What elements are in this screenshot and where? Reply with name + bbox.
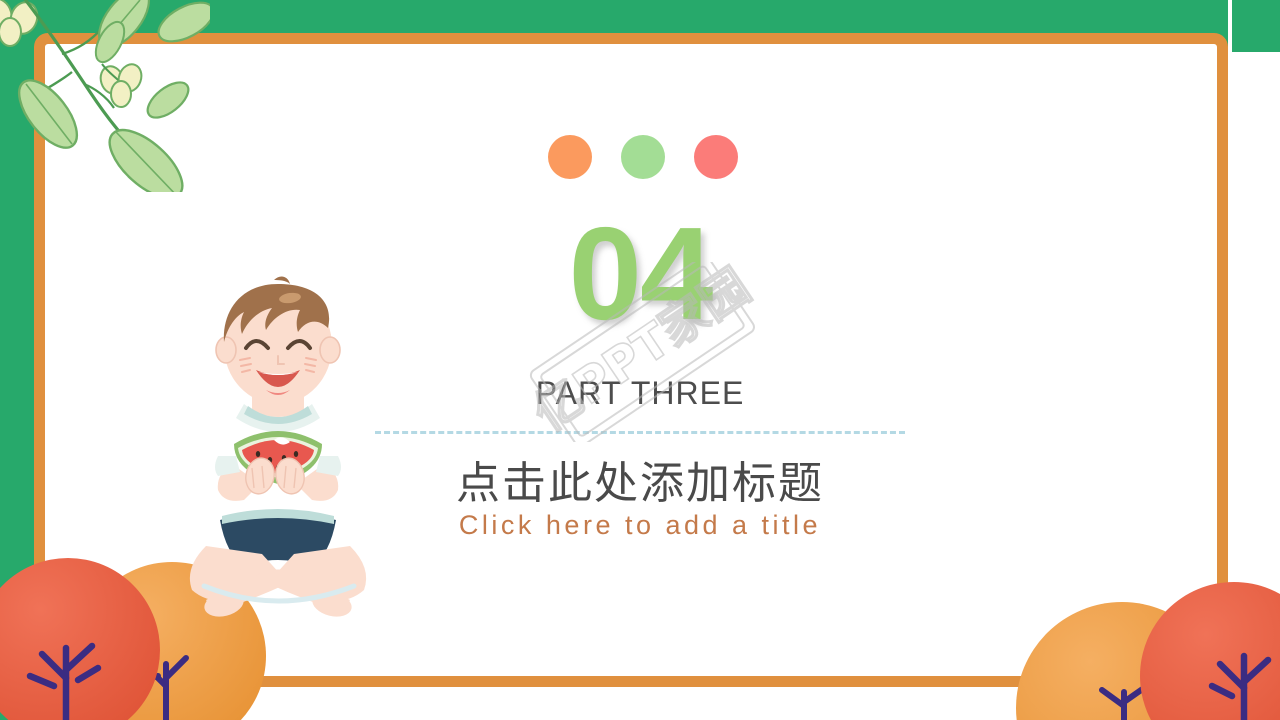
section-part-label: PART THREE (0, 375, 1280, 412)
tree-canopy-red-2 (1140, 582, 1280, 720)
dot-green (621, 135, 665, 179)
trees-right (1012, 548, 1280, 720)
dashed-divider (375, 431, 905, 434)
section-subtitle-en[interactable]: Click here to add a title (0, 510, 1280, 541)
green-background-right (1232, 0, 1280, 52)
section-numeral: 04 (0, 208, 1280, 340)
vine-icon (0, 0, 210, 192)
slide-root: 04 PART THREE 点击此处添加标题 Click here to add… (0, 0, 1280, 720)
section-heading-cn[interactable]: 点击此处添加标题 (0, 447, 1280, 511)
vine-decoration (0, 0, 210, 197)
bud-cluster-top (0, 0, 41, 46)
trees-right-icon (1012, 548, 1280, 720)
dot-red (694, 135, 738, 179)
dot-orange (548, 135, 592, 179)
vine-leaves (8, 0, 210, 192)
decorative-dots (548, 134, 738, 180)
